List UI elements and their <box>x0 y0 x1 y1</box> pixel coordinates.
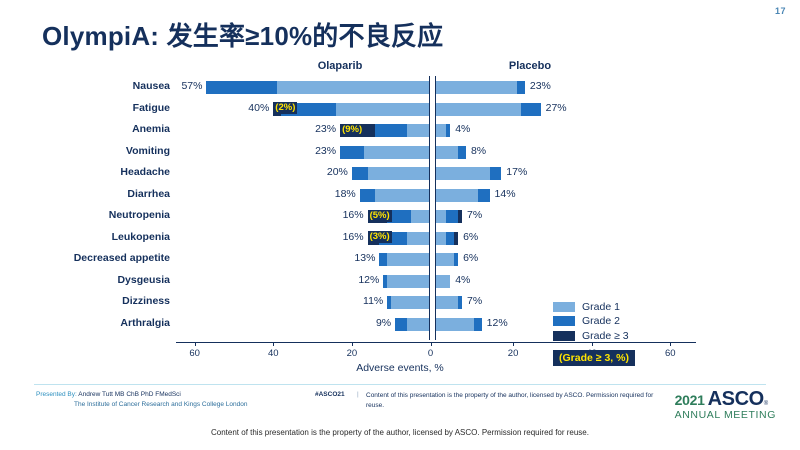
presented-by-label: Presented By: <box>36 391 77 398</box>
conference-hashtag: #ASCO21 <box>315 391 345 398</box>
bar-placebo <box>435 167 502 180</box>
grade3-annotation: (5%) <box>368 210 392 222</box>
legend-item-3: Grade ≥ 3 <box>553 329 635 342</box>
chart-row: Decreased appetite13%6% <box>0 250 800 272</box>
value-label-placebo: 27% <box>546 102 606 114</box>
value-label-placebo: 6% <box>463 231 523 243</box>
footer-separator: | <box>357 391 359 398</box>
bar-olaparib <box>352 167 431 180</box>
value-label-olaparib: 40% <box>211 102 269 114</box>
bar-segment-g2 <box>478 189 490 202</box>
value-label-placebo: 4% <box>455 274 515 286</box>
row-label-anemia: Anemia <box>10 123 170 135</box>
zero-axis-line-left <box>429 76 431 340</box>
bar-placebo <box>435 318 482 331</box>
bar-placebo <box>435 275 451 288</box>
chart-row: Neutropenia16%(5%)7% <box>0 207 800 229</box>
bar-olaparib <box>340 146 430 159</box>
bar-segment-g2 <box>458 296 462 309</box>
bar-segment-g1 <box>435 275 451 288</box>
value-label-placebo: 17% <box>506 166 566 178</box>
legend-swatch-icon <box>553 331 575 341</box>
bar-placebo <box>435 189 490 202</box>
bar-placebo <box>435 210 463 223</box>
row-label-decreased-appetite: Decreased appetite <box>10 252 170 264</box>
x-axis-tick <box>431 342 432 346</box>
bar-segment-g1 <box>407 124 431 137</box>
bar-segment-g2 <box>360 189 376 202</box>
bar-olaparib <box>379 253 430 266</box>
presenter-name: Andrew Tutt MB ChB PhD FMedSci <box>78 391 181 398</box>
legend-swatch-icon <box>553 316 575 326</box>
bar-segment-g1 <box>387 275 430 288</box>
presenter-affiliation: The Institute of Cancer Research and Kin… <box>36 400 247 410</box>
bar-segment-g1 <box>391 296 430 309</box>
bar-segment-g1 <box>435 296 459 309</box>
bar-segment-g1 <box>435 253 455 266</box>
bar-segment-g2 <box>206 81 277 94</box>
arm-header-olaparib: Olaparib <box>280 60 400 72</box>
x-tick-label-right-20: 20 <box>498 348 528 359</box>
value-label-olaparib: 16% <box>306 231 364 243</box>
bar-segment-g1 <box>364 146 431 159</box>
asco-logo-name: ASCO <box>708 388 764 411</box>
asco-logo: 2021 ASCO® ANNUAL MEETING <box>675 388 776 421</box>
value-label-olaparib: 16% <box>306 209 364 221</box>
bar-segment-g2 <box>490 167 502 180</box>
bar-olaparib <box>206 81 430 94</box>
value-label-olaparib: 57% <box>144 80 202 92</box>
chart-row: Anemia23%(9%)4% <box>0 121 800 143</box>
value-label-placebo: 7% <box>467 209 527 221</box>
value-label-olaparib: 20% <box>290 166 348 178</box>
bar-segment-g2 <box>446 124 450 137</box>
value-label-olaparib: 13% <box>317 252 375 264</box>
x-tick-label-left-60: 60 <box>180 348 210 359</box>
permission-notice: Content of this presentation is the prop… <box>366 391 656 412</box>
bar-segment-g1 <box>435 232 447 245</box>
value-label-placebo: 8% <box>471 145 531 157</box>
value-label-olaparib: 23% <box>278 145 336 157</box>
bar-placebo <box>435 232 459 245</box>
slide-root: 17 OlympiA: 发生率≥10%的不良反应 Olaparib Placeb… <box>0 0 800 450</box>
chart-row: Dizziness11%7% <box>0 293 800 315</box>
bar-segment-g2 <box>446 232 454 245</box>
x-tick-label-left-20: 20 <box>337 348 367 359</box>
page-title: OlympiA: 发生率≥10%的不良反应 <box>42 16 443 53</box>
row-label-arthralgia: Arthralgia <box>10 317 170 329</box>
row-label-fatigue: Fatigue <box>10 102 170 114</box>
legend-grade3-note: (Grade ≥ 3, %) <box>553 350 635 366</box>
grade3-annotation: (9%) <box>340 124 364 136</box>
legend-label: Grade ≥ 3 <box>582 330 629 342</box>
row-label-diarrhea: Diarrhea <box>10 188 170 200</box>
bar-segment-g1 <box>336 103 430 116</box>
bar-segment-g2 <box>454 253 458 266</box>
bar-olaparib <box>395 318 430 331</box>
bar-placebo <box>435 296 463 309</box>
bar-segment-g1 <box>375 189 430 202</box>
adverse-events-chart: Olaparib Placebo Nausea57%23%Fatigue40%(… <box>0 60 800 360</box>
bar-segment-g2 <box>458 146 466 159</box>
chart-row: Fatigue40%(2%)27% <box>0 100 800 122</box>
bar-segment-g2 <box>474 318 482 331</box>
bar-segment-g1 <box>435 146 459 159</box>
zero-axis-line-right <box>435 76 437 340</box>
bar-segment-g1 <box>368 167 431 180</box>
x-tick-label-left-0: 0 <box>416 348 446 359</box>
value-label-olaparib: 9% <box>333 317 391 329</box>
bar-segment-g2 <box>352 167 368 180</box>
bar-segment-g3 <box>458 210 462 223</box>
bar-segment-g1 <box>435 81 518 94</box>
x-tick-label-right-60: 60 <box>655 348 685 359</box>
bar-placebo <box>435 81 525 94</box>
bar-segment-g1 <box>435 103 521 116</box>
bar-placebo <box>435 146 466 159</box>
bar-placebo <box>435 253 459 266</box>
value-label-olaparib: 12% <box>321 274 379 286</box>
chart-row: Vomiting23%8% <box>0 143 800 165</box>
bar-segment-g2 <box>521 103 541 116</box>
grade3-annotation: (3%) <box>368 231 392 243</box>
bottom-permission-note: Content of this presentation is the prop… <box>0 428 800 437</box>
asco-logo-subtitle: ANNUAL MEETING <box>675 409 776 421</box>
arm-header-placebo: Placebo <box>470 60 590 72</box>
value-label-placebo: 12% <box>487 317 547 329</box>
x-axis-tick <box>195 342 196 346</box>
legend-label: Grade 2 <box>582 315 620 327</box>
bar-segment-g2 <box>517 81 525 94</box>
bar-olaparib <box>387 296 430 309</box>
row-label-vomiting: Vomiting <box>10 145 170 157</box>
bar-segment-g2 <box>379 253 387 266</box>
row-label-headache: Headache <box>10 166 170 178</box>
value-label-placebo: 7% <box>467 295 527 307</box>
row-label-neutropenia: Neutropenia <box>10 209 170 221</box>
chart-legend: Grade 1Grade 2Grade ≥ 3(Grade ≥ 3, %) <box>553 300 635 366</box>
grade3-annotation: (2%) <box>273 102 297 114</box>
x-axis-tick <box>513 342 514 346</box>
x-axis-title: Adverse events, % <box>0 362 800 374</box>
bar-segment-g2 <box>446 210 458 223</box>
legend-swatch-icon <box>553 302 575 312</box>
value-label-olaparib: 18% <box>298 188 356 200</box>
legend-label: Grade 1 <box>582 301 620 313</box>
chart-row: Nausea57%23% <box>0 78 800 100</box>
value-label-placebo: 6% <box>463 252 523 264</box>
value-label-olaparib: 23% <box>278 123 336 135</box>
x-axis-tick <box>352 342 353 346</box>
slide-number: 17 <box>775 6 786 16</box>
bar-segment-g1 <box>407 232 431 245</box>
x-axis-tick <box>273 342 274 346</box>
chart-row: Dysgeusia12%4% <box>0 272 800 294</box>
chart-row: Diarrhea18%14% <box>0 186 800 208</box>
chart-row: Arthralgia9%12% <box>0 315 800 337</box>
registered-trademark-icon: ® <box>764 401 768 407</box>
value-label-placebo: 23% <box>530 80 590 92</box>
chart-row: Headache20%17% <box>0 164 800 186</box>
bar-segment-g2 <box>340 146 364 159</box>
chart-plot-area: Nausea57%23%Fatigue40%(2%)27%Anemia23%(9… <box>0 76 800 342</box>
bar-placebo <box>435 103 541 116</box>
bar-segment-g2 <box>375 124 406 137</box>
bar-olaparib <box>383 275 430 288</box>
presented-by: Presented By: Andrew Tutt MB ChB PhD FMe… <box>36 390 247 410</box>
asco-logo-year: 2021 <box>675 392 705 408</box>
value-label-placebo: 4% <box>455 123 515 135</box>
bar-segment-g3 <box>454 232 458 245</box>
bar-segment-g1 <box>387 253 430 266</box>
bar-segment-g1 <box>435 210 447 223</box>
chart-row: Leukopenia16%(3%)6% <box>0 229 800 251</box>
x-tick-label-left-40: 40 <box>258 348 288 359</box>
x-axis-tick <box>670 342 671 346</box>
bar-segment-g1 <box>435 189 478 202</box>
bar-segment-g1 <box>277 81 430 94</box>
legend-item-2: Grade 2 <box>553 315 635 328</box>
bar-segment-g1 <box>435 124 447 137</box>
row-label-dizziness: Dizziness <box>10 295 170 307</box>
bar-segment-g2 <box>395 318 407 331</box>
bar-segment-g1 <box>435 167 490 180</box>
bar-segment-g1 <box>435 318 474 331</box>
bar-placebo <box>435 124 451 137</box>
row-label-leukopenia: Leukopenia <box>10 231 170 243</box>
row-label-dysgeusia: Dysgeusia <box>10 274 170 286</box>
value-label-olaparib: 11% <box>325 295 383 307</box>
bar-olaparib <box>360 189 431 202</box>
bar-segment-g1 <box>407 318 431 331</box>
footer-divider <box>34 384 766 385</box>
value-label-placebo: 14% <box>495 188 555 200</box>
legend-item-1: Grade 1 <box>553 300 635 313</box>
